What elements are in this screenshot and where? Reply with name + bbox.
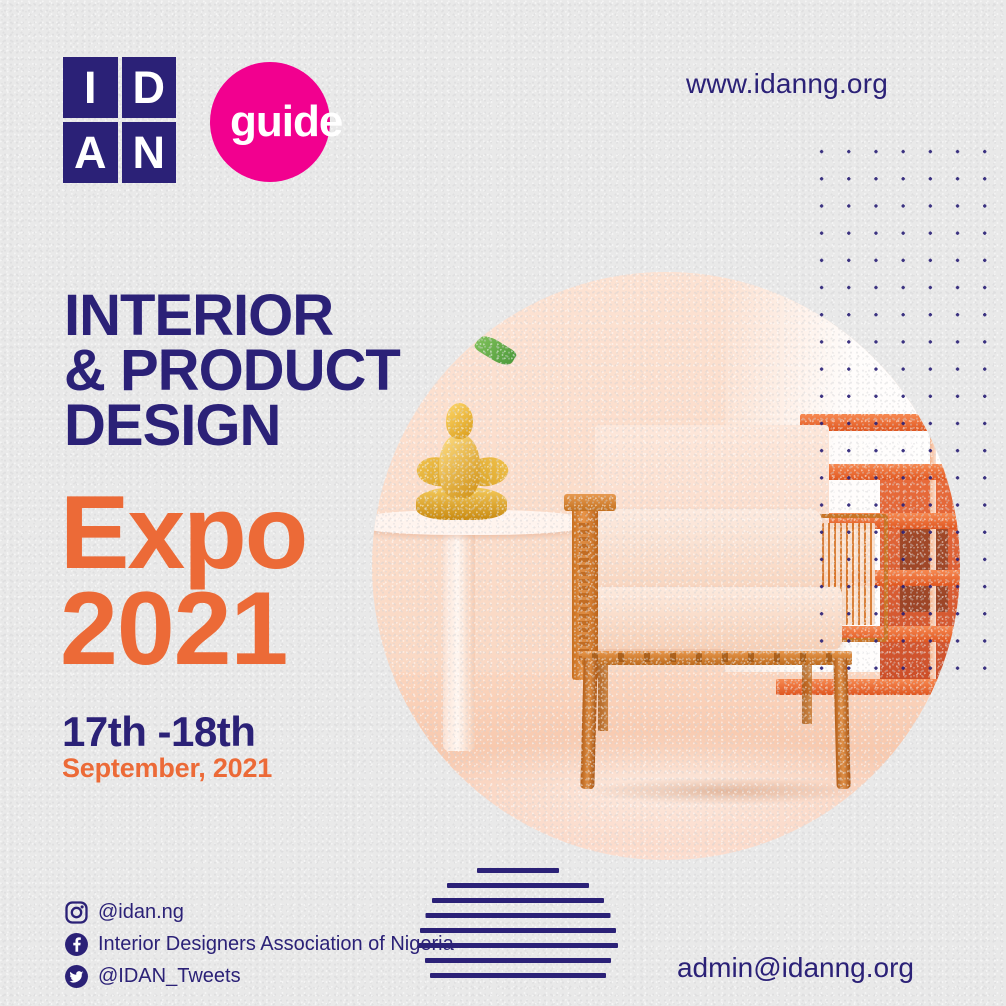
idan-logo-letter-n: N — [122, 122, 177, 183]
idan-logo-letter-a: A — [63, 122, 118, 183]
list-item[interactable]: Interior Designers Association of Nigeri… — [64, 932, 454, 957]
social-links: @idan.ng Interior Designers Association … — [64, 900, 454, 989]
figurine-head — [446, 403, 473, 439]
facebook-handle: Interior Designers Association of Nigeri… — [98, 933, 454, 956]
guide-logo[interactable]: guide — [210, 62, 330, 182]
pyramid-line — [432, 898, 604, 903]
headline-line-3: DESIGN — [64, 398, 400, 453]
website-url[interactable]: www.idanng.org — [686, 68, 888, 100]
chair-floor-shadow — [585, 778, 862, 804]
idan-logo[interactable]: I D A N — [63, 57, 176, 183]
headline-line-1: INTERIOR — [64, 288, 400, 343]
event-date-days: 17th -18th — [62, 708, 255, 756]
pyramid-line — [477, 868, 559, 873]
headline-line-2: & PRODUCT — [64, 343, 400, 398]
page-title: INTERIOR & PRODUCT DESIGN — [64, 288, 400, 453]
side-table-leg — [443, 528, 475, 751]
list-item[interactable]: @IDAN_Tweets — [64, 964, 454, 989]
pyramid-line — [447, 883, 589, 888]
twitter-handle: @IDAN_Tweets — [98, 965, 241, 988]
instagram-icon — [64, 900, 89, 925]
chair-back-slats — [579, 523, 589, 662]
figurine-body — [439, 434, 480, 499]
expo-word: Expo — [60, 486, 306, 582]
event-date-month: September, 2021 — [62, 753, 272, 784]
pyramid-line — [430, 973, 606, 978]
idan-logo-letter-i: I — [63, 57, 118, 118]
instagram-handle: @idan.ng — [98, 901, 184, 924]
expo-year: 2021 — [60, 582, 287, 678]
list-item[interactable]: @idan.ng — [64, 900, 454, 925]
chair-back-cushion — [598, 509, 822, 596]
contact-email[interactable]: admin@idanng.org — [677, 952, 914, 984]
guide-logo-text: guide — [230, 100, 342, 144]
chair-leg-front-left — [580, 658, 597, 790]
chair-armrest — [564, 494, 617, 510]
poster-canvas: I D A N guide www.idanng.org INTERIOR & … — [0, 0, 1006, 1006]
twitter-icon — [64, 964, 89, 989]
idan-logo-letter-d: D — [122, 57, 177, 118]
dot-grid-decoration — [800, 130, 1006, 690]
facebook-icon — [64, 932, 89, 957]
